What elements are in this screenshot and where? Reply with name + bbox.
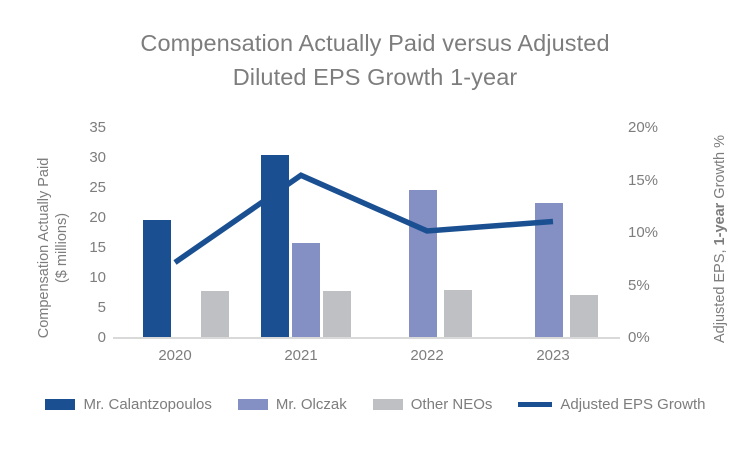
legend-label: Mr. Calantzopoulos — [83, 396, 211, 413]
y-tick-0: 0 — [76, 330, 106, 345]
legend-line-icon — [518, 402, 552, 407]
y-tick-10: 10 — [76, 270, 106, 285]
adjusted-eps-growth-line — [113, 127, 616, 337]
y2-axis-title-part-2: 1-year — [712, 203, 728, 246]
y2-axis-title: Adjusted EPS, 1-year Growth % — [711, 114, 729, 364]
y-tick-35: 35 — [76, 120, 106, 135]
x-tick-2022: 2022 — [367, 347, 487, 364]
plot-area — [113, 127, 616, 337]
legend-item-olczak[interactable]: Mr. Olczak — [238, 396, 347, 413]
legend-swatch-icon — [45, 399, 75, 410]
y-tick-15: 15 — [76, 240, 106, 255]
legend-item-calantzopoulos[interactable]: Mr. Calantzopoulos — [45, 396, 211, 413]
x-tick-2023: 2023 — [493, 347, 613, 364]
chart-legend: Mr. Calantzopoulos Mr. Olczak Other NEOs… — [0, 396, 751, 413]
legend-item-other-neos[interactable]: Other NEOs — [373, 396, 493, 413]
legend-swatch-icon — [238, 399, 268, 410]
y2-tick-20: 20% — [628, 120, 672, 135]
y2-tick-10: 10% — [628, 225, 672, 240]
y2-tick-15: 15% — [628, 173, 672, 188]
y2-tick-5: 5% — [628, 278, 672, 293]
chart-title-line-2: Diluted EPS Growth 1-year — [70, 60, 680, 94]
chart-container: Compensation Actually Paid versus Adjust… — [0, 0, 751, 451]
y2-tick-0: 0% — [628, 330, 672, 345]
legend-item-adjusted-eps-growth[interactable]: Adjusted EPS Growth — [518, 396, 705, 413]
legend-label: Other NEOs — [411, 396, 493, 413]
y-tick-20: 20 — [76, 210, 106, 225]
x-tick-2020: 2020 — [115, 347, 235, 364]
y-tick-30: 30 — [76, 150, 106, 165]
legend-label: Adjusted EPS Growth — [560, 396, 705, 413]
y-tick-5: 5 — [76, 300, 106, 315]
y2-axis-title-part-3: Growth % — [712, 135, 728, 203]
y-tick-25: 25 — [76, 180, 106, 195]
y-axis-title-line-2: ($ millions) — [53, 123, 71, 373]
y2-axis-title-part-1: Adjusted EPS, — [712, 245, 728, 343]
legend-label: Mr. Olczak — [276, 396, 347, 413]
x-tick-2021: 2021 — [241, 347, 361, 364]
x-axis-line — [113, 337, 620, 339]
legend-swatch-icon — [373, 399, 403, 410]
y-axis-title: Compensation Actually Paid ($ millions) — [35, 123, 71, 373]
y-axis-title-line-1: Compensation Actually Paid — [35, 123, 53, 373]
chart-title: Compensation Actually Paid versus Adjust… — [70, 26, 680, 94]
chart-title-line-1: Compensation Actually Paid versus Adjust… — [70, 26, 680, 60]
